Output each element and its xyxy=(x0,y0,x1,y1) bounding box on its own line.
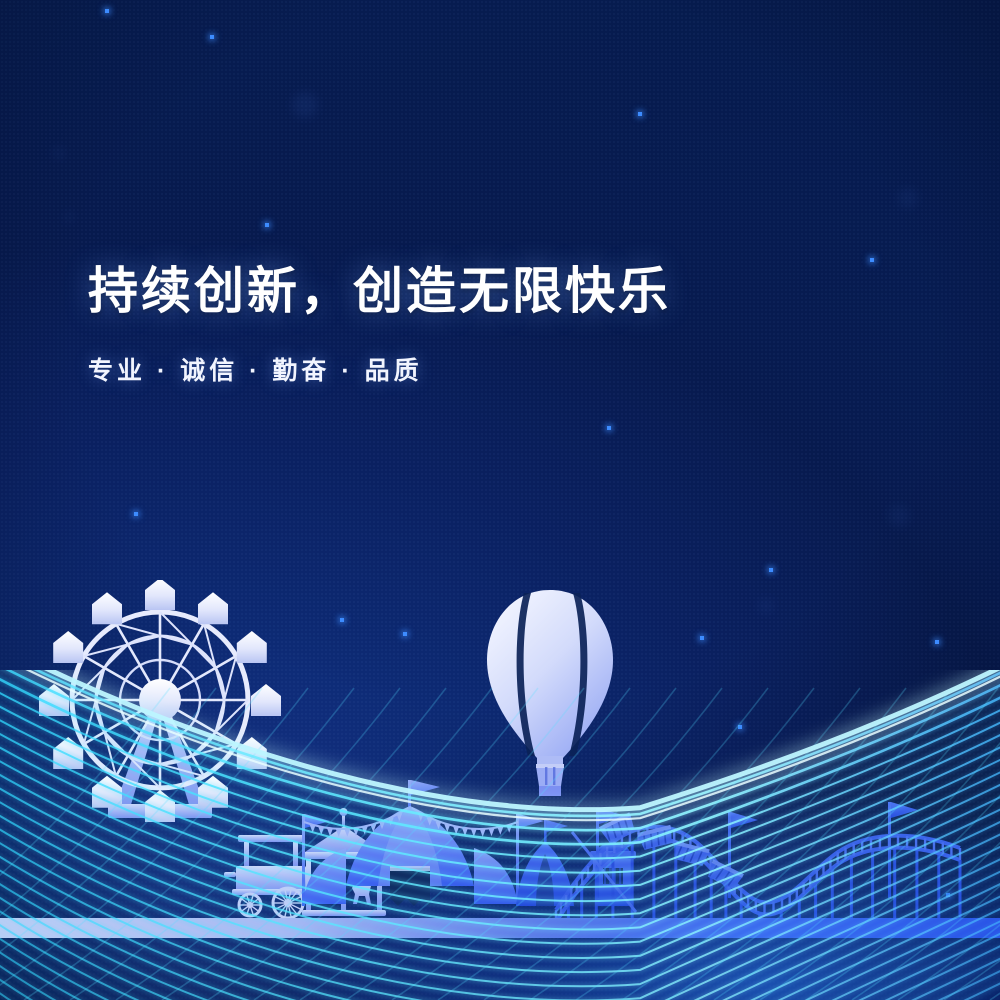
wave-line xyxy=(0,804,1000,986)
light-particle xyxy=(638,112,642,116)
ferris-gondola xyxy=(53,631,83,663)
light-particle xyxy=(870,258,874,262)
bokeh-circle xyxy=(63,211,75,223)
copy-block: 持续创新，创造无限快乐 专业 · 诚信 · 勤奋 · 品质 xyxy=(88,262,671,387)
wave-cross-line xyxy=(0,688,262,1000)
light-particle xyxy=(769,568,773,572)
bokeh-circle xyxy=(898,188,918,208)
wave-cross-line xyxy=(622,688,952,1000)
wave-line xyxy=(0,818,1000,1000)
wave-cross-line xyxy=(484,688,814,1000)
bokeh-circle xyxy=(52,146,66,160)
ferris-gondola xyxy=(237,631,267,663)
light-particle xyxy=(105,9,109,13)
light-particle xyxy=(210,35,214,39)
page-title: 持续创新，创造无限快乐 xyxy=(88,262,671,321)
wave-line xyxy=(0,696,1000,873)
wave-cross-line xyxy=(714,688,1000,1000)
light-particle xyxy=(607,426,611,430)
light-particle xyxy=(134,512,138,516)
bokeh-circle xyxy=(888,505,910,527)
light-particle xyxy=(265,223,269,227)
banner-poster: 持续创新，创造无限快乐 专业 · 诚信 · 勤奋 · 品质 xyxy=(0,0,1000,1000)
ferris-gondola xyxy=(92,592,122,624)
ferris-gondola xyxy=(145,580,175,610)
wave-line xyxy=(0,683,1000,859)
wave-leading-edge-highlight xyxy=(0,670,1000,820)
wave-line xyxy=(0,831,1000,1000)
wave-cross-line xyxy=(806,688,1000,1000)
wave-line-field xyxy=(0,670,1000,1000)
bokeh-circle xyxy=(292,92,318,118)
ferris-gondola xyxy=(198,592,228,624)
page-subtitle: 专业 · 诚信 · 勤奋 · 品质 xyxy=(88,351,671,387)
